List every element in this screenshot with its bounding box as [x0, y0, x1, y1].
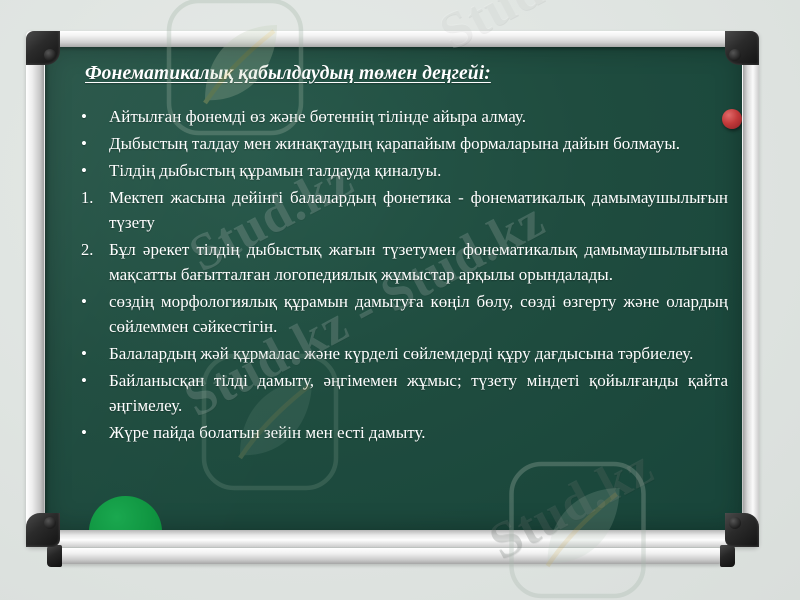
board-title: Фонематикалық қабылдаудың төмен деңгейі:: [85, 63, 491, 85]
list-item-bullet: •: [73, 420, 109, 445]
list-item-text: Тілдің дыбыстың құрамын талдауда қиналуы…: [109, 158, 728, 183]
list-item-number: 1.: [73, 185, 109, 210]
corner-cap-top-left: [26, 31, 60, 65]
list-item: 2.Бұл әрекет тілдің дыбыстық жағын түзет…: [73, 237, 728, 287]
frame-top-edge: [26, 31, 759, 47]
whiteboard-frame: Stud.kz - Stud.kz Stud.kz Stud.kz - Stud…: [26, 31, 759, 547]
frame-left-edge: [26, 31, 44, 547]
chalkboard-surface: Stud.kz - Stud.kz Stud.kz Stud.kz - Stud…: [45, 47, 742, 530]
board-list: •Айтылған фонемді өз және бөтеннің тілін…: [73, 104, 728, 447]
list-item: •Дыбыстың талдау мен жинақтаудың қарапай…: [73, 131, 728, 156]
list-item-text: Мектеп жасына дейінгі балалардың фонетик…: [109, 185, 728, 235]
list-item: •Балалардың жәй құрмалас және күрделі сө…: [73, 341, 728, 366]
list-item: •Айтылған фонемді өз және бөтеннің тілін…: [73, 104, 728, 129]
list-item-bullet: •: [73, 158, 109, 183]
list-item: •сөздің морфологиялық құрамын дамытуға к…: [73, 289, 728, 339]
list-item-text: Байланысқан тілді дамыту, әңгімемен жұмы…: [109, 368, 728, 418]
corner-cap-bottom-left: [26, 513, 60, 547]
list-item-text: Айтылған фонемді өз және бөтеннің тілінд…: [109, 104, 728, 129]
list-item-text: Бұл әрекет тілдің дыбыстық жағын түзетум…: [109, 237, 728, 287]
corner-cap-top-right: [725, 31, 759, 65]
list-item-text: Жүре пайда болатын зейін мен есті дамыту…: [109, 420, 728, 445]
pen-tray-bracket-left: [47, 545, 62, 567]
list-item-text: Балалардың жәй құрмалас және күрделі сөй…: [109, 341, 728, 366]
list-item-bullet: •: [73, 341, 109, 366]
list-item: •Тілдің дыбыстың құрамын талдауда қиналу…: [73, 158, 728, 183]
list-item-bullet: •: [73, 289, 109, 314]
slide-canvas: Stud.kz Stud.kz - Stud.kz Stud.kz Stud.k…: [0, 0, 800, 600]
list-item-bullet: •: [73, 368, 109, 393]
list-item-text: Дыбыстың талдау мен жинақтаудың қарапайы…: [109, 131, 728, 156]
board-text-content: Фонематикалық қабылдаудың төмен деңгейі:…: [45, 47, 742, 530]
list-item-number: 2.: [73, 237, 109, 262]
list-item: 1.Мектеп жасына дейінгі балалардың фонет…: [73, 185, 728, 235]
list-item: •Байланысқан тілді дамыту, әңгімемен жұм…: [73, 368, 728, 418]
frame-right-edge: [743, 31, 759, 547]
list-item-text: сөздің морфологиялық құрамын дамытуға кө…: [109, 289, 728, 339]
list-item-bullet: •: [73, 131, 109, 156]
list-item-bullet: •: [73, 104, 109, 129]
pen-tray-bracket-right: [720, 545, 735, 567]
corner-cap-bottom-right: [725, 513, 759, 547]
list-item: •Жүре пайда болатын зейін мен есті дамыт…: [73, 420, 728, 445]
frame-bottom-edge: [26, 530, 759, 547]
pen-tray: [54, 548, 726, 564]
